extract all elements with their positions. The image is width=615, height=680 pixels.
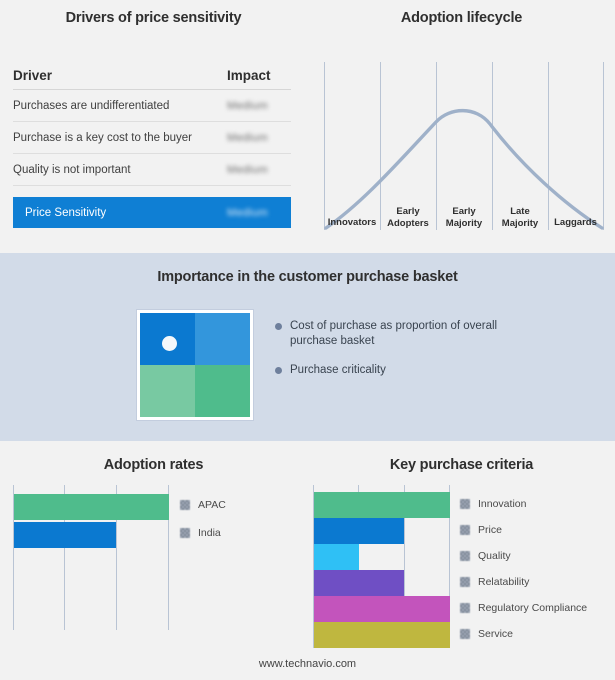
lifecycle-panel-title: Adoption lifecycle [308, 10, 615, 26]
legend-swatch-icon [460, 525, 470, 535]
top-row: Drivers of price sensitivity Driver Impa… [0, 0, 615, 253]
quadrant-bottom-left[interactable] [140, 365, 195, 417]
panel-drivers-of-price-sensitivity: Drivers of price sensitivity Driver Impa… [0, 0, 307, 253]
legend-swatch-icon [460, 577, 470, 587]
legend-label: Price [478, 524, 502, 536]
bar-service[interactable] [314, 622, 450, 648]
impact-value: Medium [227, 100, 291, 112]
adoption-rates-legend: APAC India [180, 485, 300, 565]
infographic-page: Drivers of price sensitivity Driver Impa… [0, 0, 615, 680]
legend-item-quality: Quality [460, 550, 511, 562]
bottom-row: Adoption rates APAC India [0, 441, 615, 680]
legend-swatch-icon [180, 500, 190, 510]
lifecycle-label-early-adopters: Early Adopters [380, 206, 436, 229]
panel-adoption-lifecycle: Adoption lifecycle Innovators Early [308, 0, 615, 253]
stage-text-line1: Early [436, 206, 492, 218]
legend-swatch-icon [460, 629, 470, 639]
driver-label: Quality is not important [13, 164, 131, 176]
legend-item: Cost of purchase as proportion of overal… [275, 319, 575, 349]
basket-legend: Cost of purchase as proportion of overal… [275, 319, 575, 392]
legend-label: Cost of purchase as proportion of overal… [290, 319, 500, 349]
stage-text: Innovators [324, 217, 380, 229]
panel-importance-in-purchase-basket: Importance in the customer purchase bask… [0, 253, 615, 441]
lifecycle-label-late-majority: Late Majority [492, 206, 548, 229]
quadrant-bottom-right[interactable] [195, 365, 250, 417]
lifecycle-chart [324, 62, 604, 230]
legend-swatch-icon [180, 528, 190, 538]
stage-text-line2: Majority [492, 218, 548, 230]
table-row[interactable]: Quality is not important Medium [13, 154, 291, 186]
quadrant-top-left[interactable] [140, 313, 195, 365]
legend-item-regulatory-compliance: Regulatory Compliance [460, 602, 587, 614]
table-row-highlighted-price-sensitivity[interactable]: Price Sensitivity Medium [13, 197, 291, 228]
table-header-row: Driver Impact [13, 62, 291, 90]
bullet-dot-icon [275, 367, 282, 374]
lifecycle-label-laggards: Laggards [548, 217, 603, 229]
table-body: Purchases are undifferentiated Medium Pu… [13, 90, 291, 228]
panel-key-purchase-criteria: Key purchase criteria Innovation [308, 441, 615, 680]
bullet-dot-icon [275, 323, 282, 330]
adoption-rates-title: Adoption rates [0, 457, 307, 473]
lifecycle-label-innovators: Innovators [324, 217, 380, 229]
bar-quality[interactable] [314, 544, 359, 570]
lifecycle-stage-labels: Innovators Early Adopters Early Majority… [324, 206, 604, 238]
bar-apac[interactable] [14, 494, 169, 520]
basket-panel-title: Importance in the customer purchase bask… [0, 269, 615, 285]
legend-item-relatability: Relatability [460, 576, 529, 588]
quadrant-matrix [136, 309, 254, 421]
stage-text-line2: Majority [436, 218, 492, 230]
legend-label: Regulatory Compliance [478, 602, 587, 614]
drivers-panel-title: Drivers of price sensitivity [0, 10, 307, 26]
footer-url[interactable]: www.technavio.com [0, 658, 615, 670]
legend-item-price: Price [460, 524, 502, 536]
impact-value: Medium [227, 207, 291, 219]
impact-value: Medium [227, 132, 291, 144]
position-marker-icon [162, 336, 177, 351]
stage-text-line1: Early [380, 206, 436, 218]
legend-item-india: India [180, 527, 221, 539]
bell-curve-icon [324, 62, 604, 230]
panel-adoption-rates: Adoption rates APAC India [0, 441, 307, 680]
legend-label: Innovation [478, 498, 526, 510]
legend-swatch-icon [460, 551, 470, 561]
legend-label: Purchase criticality [290, 363, 386, 378]
driver-label: Purchase is a key cost to the buyer [13, 132, 192, 144]
legend-swatch-icon [460, 603, 470, 613]
legend-label: Service [478, 628, 513, 640]
stage-text: Laggards [548, 217, 603, 229]
legend-label: Quality [478, 550, 511, 562]
bar-innovation[interactable] [314, 492, 450, 518]
key-purchase-criteria-title: Key purchase criteria [308, 457, 615, 473]
driver-label: Price Sensitivity [25, 207, 106, 219]
stage-text-line2: Adopters [380, 218, 436, 230]
table-row[interactable]: Purchases are undifferentiated Medium [13, 90, 291, 122]
bar-relatability[interactable] [314, 570, 404, 596]
quadrant-top-right[interactable] [195, 313, 250, 365]
table-row[interactable]: Purchase is a key cost to the buyer Medi… [13, 122, 291, 154]
legend-label: APAC [198, 499, 226, 511]
column-header-impact: Impact [227, 68, 291, 83]
bar-india[interactable] [14, 522, 116, 548]
key-purchase-criteria-chart [313, 485, 453, 648]
key-purchase-criteria-legend: Innovation Price Quality Relatability Re… [460, 485, 615, 655]
impact-value: Medium [227, 164, 291, 176]
bar-price[interactable] [314, 518, 404, 544]
quadrant-matrix-inner [140, 313, 250, 417]
legend-item-service: Service [460, 628, 513, 640]
lifecycle-label-early-majority: Early Majority [436, 206, 492, 229]
bar-regulatory-compliance[interactable] [314, 596, 450, 622]
driver-label: Purchases are undifferentiated [13, 100, 169, 112]
column-header-driver: Driver [13, 68, 52, 83]
legend-label: India [198, 527, 221, 539]
drivers-table: Driver Impact Purchases are undifferenti… [13, 62, 291, 228]
adoption-rates-chart [13, 485, 173, 630]
legend-label: Relatability [478, 576, 529, 588]
legend-swatch-icon [460, 499, 470, 509]
legend-item: Purchase criticality [275, 363, 575, 378]
legend-item-apac: APAC [180, 499, 226, 511]
legend-item-innovation: Innovation [460, 498, 526, 510]
stage-text-line1: Late [492, 206, 548, 218]
